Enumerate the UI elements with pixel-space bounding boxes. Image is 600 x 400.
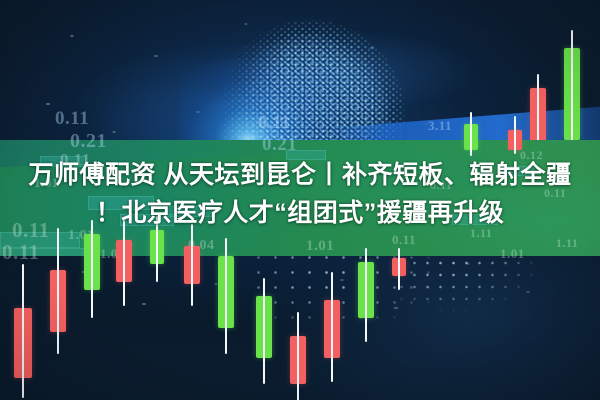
candlestick [256, 296, 272, 358]
candlestick-wick [123, 220, 125, 306]
banner-image: 0.110.210.110.213.110.120.111.010.110.11… [0, 0, 600, 400]
candlestick-wick [57, 228, 59, 354]
candlestick [358, 262, 374, 318]
headline-line-1: 万师傅配资 从天坛到昆仑丨补齐短板、辐射全疆 [0, 156, 600, 194]
candlestick-wick [22, 264, 24, 398]
candlestick [324, 300, 340, 358]
candlestick-wick [91, 220, 93, 318]
headline: 万师傅配资 从天坛到昆仑丨补齐短板、辐射全疆 ！北京医疗人才“组团式”援疆再升级 [0, 156, 600, 232]
candlestick [218, 256, 234, 328]
candlestick [184, 246, 200, 284]
candlestick-wick [225, 238, 227, 354]
candlestick-wick [191, 224, 193, 306]
candlestick-wick [331, 272, 333, 382]
candlestick-wick [470, 112, 472, 156]
candlestick [84, 234, 100, 290]
candlestick-wick [263, 278, 265, 384]
candlestick [508, 130, 522, 150]
candlestick [14, 308, 32, 378]
candlestick-wick [398, 248, 400, 290]
candlestick [290, 336, 306, 384]
candlestick-wick [514, 116, 516, 154]
candlestick [392, 258, 406, 276]
candlestick [464, 124, 478, 150]
candlestick-wick [297, 312, 299, 400]
headline-line-2: ！北京医疗人才“组团式”援疆再升级 [0, 194, 600, 232]
candlestick [116, 240, 132, 282]
candlestick-wick [365, 248, 367, 342]
candlestick [150, 230, 164, 264]
candlestick [50, 270, 66, 332]
